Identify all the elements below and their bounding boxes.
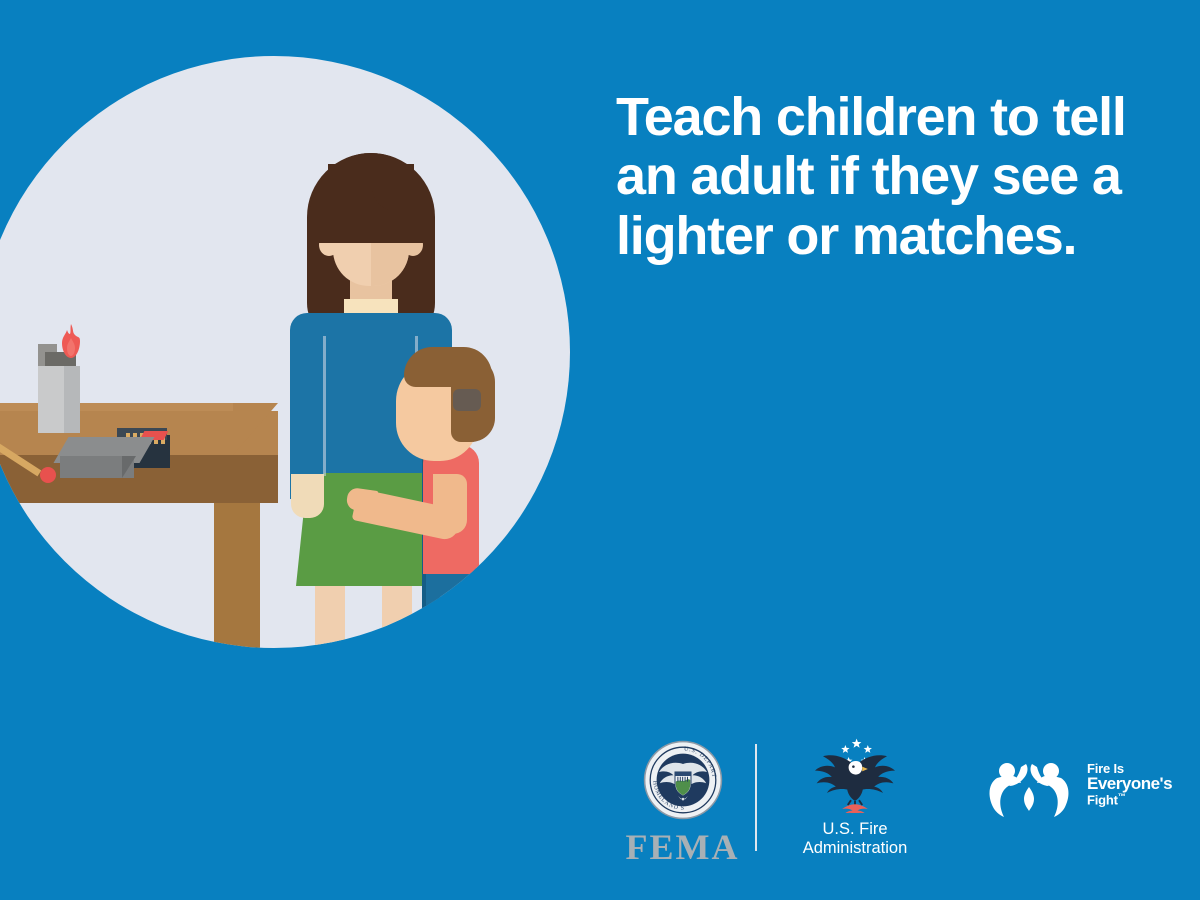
feef-line2: Everyone's: [1087, 775, 1172, 792]
table-top-perspective: [233, 403, 278, 455]
usfa-eagle-icon: [807, 737, 903, 813]
matchbox-lid-side: [122, 456, 136, 478]
trademark-symbol: ™: [1118, 792, 1126, 801]
fire-safety-poster: Teach children to tell an adult if they …: [0, 0, 1200, 900]
table-apron-perspective: [256, 455, 278, 503]
fema-logo: U.S. DEPARTMENT OF HOMELAND SECURITY FEM…: [620, 740, 745, 865]
illustration-circle: [0, 56, 570, 648]
usfa-name-line1: U.S. Fire: [785, 820, 925, 839]
lighter-body-shading: [64, 366, 80, 433]
usfa-name: U.S. Fire Administration: [785, 820, 925, 858]
two-figures-flame-icon: [985, 757, 1081, 819]
woman-hand-left: [291, 474, 324, 518]
woman-leg-left: [315, 584, 345, 648]
woman-arm-seam-left: [323, 336, 326, 476]
match-head-icon: [40, 467, 56, 483]
fire-is-everyones-fight-text: Fire Is Everyone's Fight™: [1087, 762, 1172, 806]
feef-line1: Fire Is: [1087, 762, 1172, 775]
headline-text: Teach children to tell an adult if they …: [616, 88, 1161, 266]
fema-wordmark: FEMA: [620, 829, 745, 865]
flame-icon: [58, 324, 84, 358]
logo-bar: U.S. DEPARTMENT OF HOMELAND SECURITY FEM…: [600, 735, 1170, 870]
woman-leg-right: [382, 584, 412, 648]
dhs-seal-icon: U.S. DEPARTMENT OF HOMELAND SECURITY: [643, 740, 723, 820]
feef-line3: Fight™: [1087, 793, 1172, 807]
boy-pants: [426, 568, 478, 648]
usfa-name-line2: Administration: [785, 839, 925, 858]
logo-divider: [755, 744, 757, 851]
feef-fight-word: Fight: [1087, 792, 1118, 807]
fire-is-everyones-fight-logo: Fire Is Everyone's Fight™: [985, 757, 1165, 824]
table-leg: [214, 503, 260, 648]
usfa-logo: U.S. Fire Administration: [785, 737, 925, 858]
boy-ear: [453, 389, 481, 411]
